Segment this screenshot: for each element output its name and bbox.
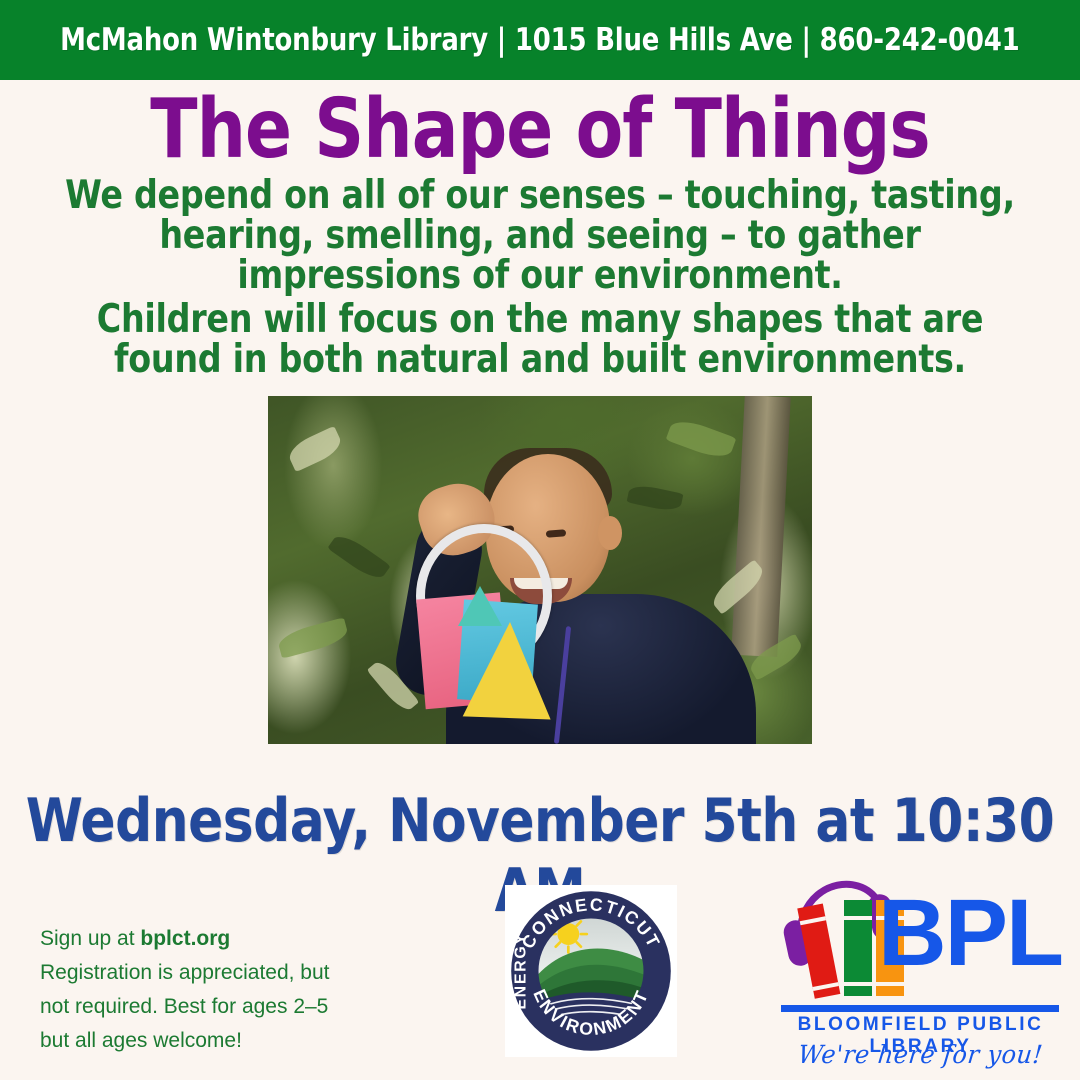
paper-shape-yellow-triangle <box>463 620 554 719</box>
bpl-logo: BPL BLOOMFIELD PUBLIC LIBRARY We're here… <box>778 872 1063 1077</box>
description-paragraph-2: Children will focus on the many shapes t… <box>56 300 1025 380</box>
header-banner-text: McMahon Wintonbury Library | 1015 Blue H… <box>60 22 1019 58</box>
signup-line-4: but all ages welcome! <box>40 1024 420 1058</box>
seal-left-text: ENERGY <box>512 932 529 1009</box>
bpl-letters: BPL <box>878 886 1062 981</box>
signup-website-link[interactable]: bplct.org <box>140 927 230 950</box>
ct-energy-environment-logo: CONNECTICUT ENVIRONMENT ENERGY <box>505 885 677 1057</box>
event-photo <box>268 396 812 744</box>
signup-line-website: Sign up at bplct.org <box>40 922 420 956</box>
bpl-underline-rule <box>781 1005 1059 1012</box>
library-header-banner: McMahon Wintonbury Library | 1015 Blue H… <box>0 0 1080 80</box>
signup-line-3: not required. Best for ages 2–5 <box>40 990 420 1024</box>
signup-line-2: Registration is appreciated, but <box>40 956 420 990</box>
bpl-tagline: We're here for you! <box>782 1040 1059 1069</box>
signup-prefix: Sign up at <box>40 927 140 950</box>
poster-description: We depend on all of our senses – touchin… <box>56 176 1025 380</box>
child-ear <box>598 516 622 550</box>
description-paragraph-1: We depend on all of our senses – touchin… <box>56 176 1025 296</box>
signup-info: Sign up at bplct.org Registration is app… <box>40 922 420 1058</box>
photo-scene <box>268 396 812 744</box>
ct-seal-icon: CONNECTICUT ENVIRONMENT ENERGY <box>507 887 675 1055</box>
child-eye-right <box>546 529 566 537</box>
poster-title: The Shape of Things <box>32 84 1047 176</box>
book-green <box>844 900 872 996</box>
